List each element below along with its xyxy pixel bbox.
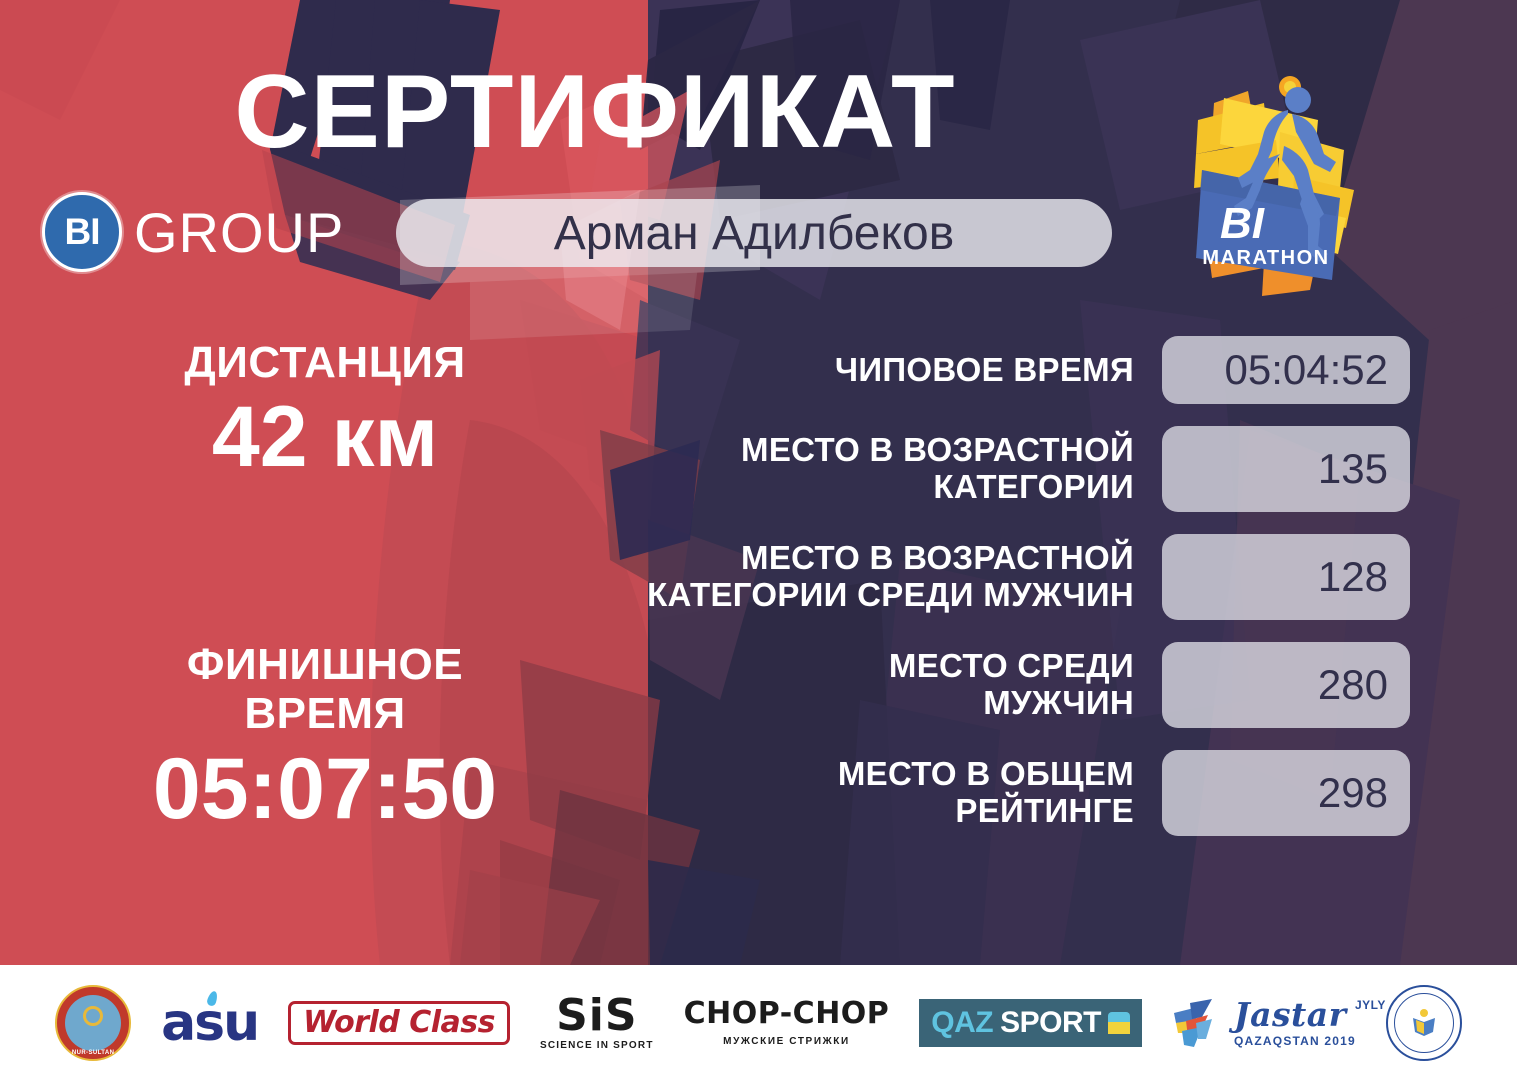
men-place-label: МЕСТО СРЕДИ МУЖЧИН <box>620 648 1162 722</box>
certificate-page: СЕРТИФИКАТ BI GROUP Арман Адилбеков <box>0 0 1517 1080</box>
results-list: ЧИПОВОЕ ВРЕМЯ 05:04:52 МЕСТО В ВОЗРАСТНО… <box>620 336 1410 858</box>
stat-row-chip-time: ЧИПОВОЕ ВРЕМЯ 05:04:52 <box>620 336 1410 404</box>
jastar-jyly-text: JYLY <box>1355 999 1386 1011</box>
sis-logo-group: SiS SCIENCE IN SPORT <box>540 994 654 1051</box>
chop-chop-wordmark: CHOP-CHOP <box>684 999 890 1029</box>
sponsor-jastar: Jastar JYLY QAZAQSTAN 2019 <box>1172 997 1356 1049</box>
sponsor-sis: SiS SCIENCE IN SPORT <box>540 994 654 1051</box>
jastar-text-group: Jastar JYLY QAZAQSTAN 2019 <box>1234 998 1356 1047</box>
bi-marathon-logo: BI MARATHON <box>1168 58 1378 303</box>
men-place-value: 280 <box>1162 642 1410 728</box>
overall-place-value: 298 <box>1162 750 1410 836</box>
sis-tagline: SCIENCE IN SPORT <box>540 1041 654 1051</box>
overall-place-label: МЕСТО В ОБЩЕМ РЕЙТИНГЕ <box>620 756 1162 830</box>
shanyrak-icon <box>83 1006 103 1026</box>
finish-time-value: 05:07:50 <box>70 743 580 836</box>
qazsport-logo-group: QAZ SPORT <box>919 999 1142 1047</box>
sponsor-nur-sultan: NUR-SULTAN <box>55 985 131 1061</box>
age-category-place-value: 135 <box>1162 426 1410 512</box>
bi-badge-icon: BI <box>42 192 122 272</box>
qazsport-sport-text: SPORT <box>1000 1008 1101 1038</box>
age-category-men-place-value: 128 <box>1162 534 1410 620</box>
ministry-figure-icon <box>1407 1006 1441 1040</box>
sponsor-world-class: World Class <box>288 1001 510 1045</box>
qazsport-qaz-text: QAZ <box>931 1008 993 1038</box>
finish-time-block: ФИНИШНОЕ ВРЕМЯ 05:07:50 <box>70 640 580 835</box>
age-category-men-place-label: МЕСТО В ВОЗРАСТНОЙ КАТЕГОРИИ СРЕДИ МУЖЧИ… <box>620 540 1162 614</box>
stat-row-age-category-place: МЕСТО В ВОЗРАСТНОЙ КАТЕГОРИИ 135 <box>620 426 1410 512</box>
sponsor-chop-chop: CHOP-CHOP МУЖСКИЕ СТРИЖКИ <box>684 999 890 1047</box>
participant-name: Арман Адилбеков <box>554 206 954 261</box>
bi-group-wordmark: GROUP <box>134 200 344 265</box>
finish-time-label: ФИНИШНОЕ ВРЕМЯ <box>70 640 580 739</box>
sis-wordmark: SiS <box>540 994 654 1038</box>
nur-sultan-seal-icon: NUR-SULTAN <box>55 985 131 1061</box>
sponsor-ministry <box>1386 985 1462 1061</box>
stat-row-age-category-men-place: МЕСТО В ВОЗРАСТНОЙ КАТЕГОРИИ СРЕДИ МУЖЧИ… <box>620 534 1410 620</box>
marathon-word-text: MARATHON <box>1202 247 1329 269</box>
distance-block: ДИСТАНЦИЯ 42 км <box>70 338 580 484</box>
chip-time-label: ЧИПОВОЕ ВРЕМЯ <box>620 352 1162 389</box>
page-title: СЕРТИФИКАТ <box>0 58 1190 167</box>
bi-group-logo: BI GROUP <box>42 192 344 272</box>
ministry-seal-inner <box>1394 993 1454 1053</box>
sponsor-asu: asu <box>161 997 258 1049</box>
sponsor-qazsport: QAZ SPORT <box>919 999 1142 1047</box>
jastar-subtitle: QAZAQSTAN 2019 <box>1234 1035 1356 1047</box>
chip-time-value: 05:04:52 <box>1162 336 1410 404</box>
sponsor-bar: NUR-SULTAN asu World Class SiS SCIENCE I… <box>0 965 1517 1080</box>
distance-label: ДИСТАНЦИЯ <box>70 338 580 387</box>
chop-chop-tagline: МУЖСКИЕ СТРИЖКИ <box>684 1037 890 1047</box>
stat-row-overall-place: МЕСТО В ОБЩЕМ РЕЙТИНГЕ 298 <box>620 750 1410 836</box>
stat-row-men-place: МЕСТО СРЕДИ МУЖЧИН 280 <box>620 642 1410 728</box>
participant-name-pill: Арман Адилбеков <box>396 199 1112 267</box>
asu-wordmark: asu <box>161 997 258 1049</box>
distance-value: 42 км <box>70 391 580 484</box>
jastar-bird-icon <box>1172 997 1228 1049</box>
marathon-bi-text: BI <box>1220 199 1265 248</box>
nur-sultan-seal-inner <box>65 995 121 1051</box>
jastar-logo-group: Jastar JYLY QAZAQSTAN 2019 <box>1172 997 1356 1049</box>
world-class-wordmark: World Class <box>288 1001 510 1045</box>
jastar-wordmark: Jastar <box>1234 998 1356 1031</box>
chop-chop-logo-group: CHOP-CHOP МУЖСКИЕ СТРИЖКИ <box>684 999 890 1047</box>
nur-sultan-seal-label: NUR-SULTAN <box>57 1050 129 1056</box>
age-category-place-label: МЕСТО В ВОЗРАСТНОЙ КАТЕГОРИИ <box>620 432 1162 506</box>
qazsport-mark-icon <box>1108 1012 1130 1034</box>
ministry-seal-icon <box>1386 985 1462 1061</box>
